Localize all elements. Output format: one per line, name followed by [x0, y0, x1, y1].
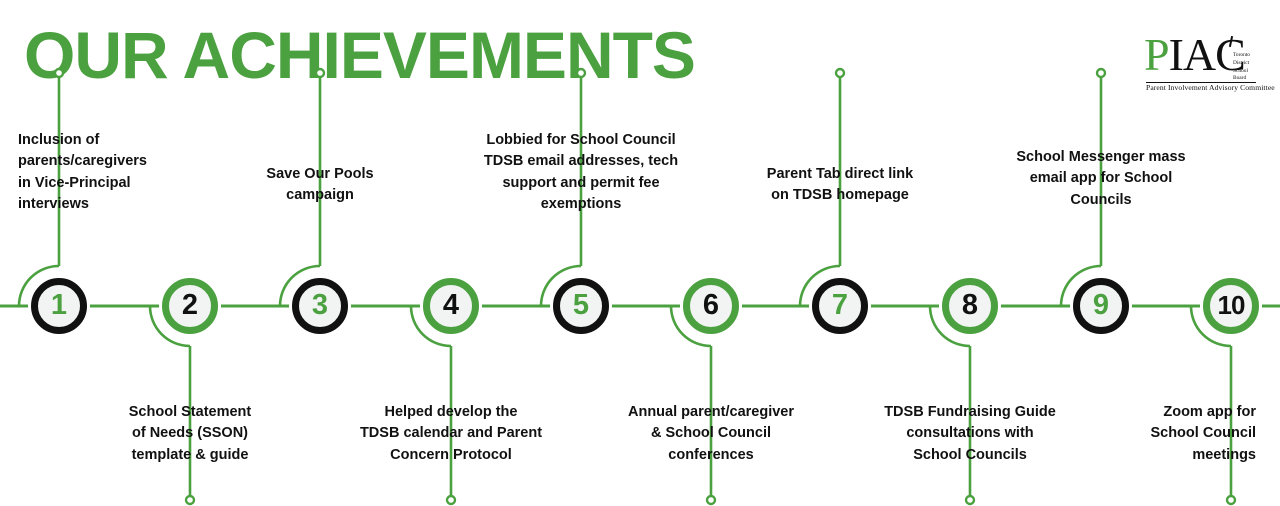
timeline-node-number: 6	[703, 291, 719, 320]
achievement-label-line: Councils	[951, 190, 1251, 211]
achievement-label-line: exemptions	[431, 194, 731, 215]
achievement-label-line: email app for School	[951, 168, 1251, 189]
achievement-label-line: template & guide	[40, 445, 340, 466]
achievement-label-line: campaign	[170, 185, 470, 206]
achievement-label-line: of Needs (SSON)	[40, 423, 340, 444]
achievement-label-9: School Messenger massemail app for Schoo…	[951, 147, 1251, 211]
achievement-label-4: Helped develop theTDSB calendar and Pare…	[301, 402, 601, 466]
timeline-node-7[interactable]: 7	[812, 278, 868, 334]
timeline-node-number: 4	[443, 291, 459, 320]
timeline-node-number: 7	[832, 291, 848, 320]
timeline-node-number: 2	[182, 291, 198, 320]
achievement-label-line: support and permit fee	[431, 173, 731, 194]
achievement-label-10: Zoom app forSchool Councilmeetings	[956, 402, 1256, 466]
achievement-label-6: Annual parent/caregiver& School Councilc…	[561, 402, 861, 466]
achievement-label-7: Parent Tab direct linkon TDSB homepage	[690, 164, 990, 207]
timeline-node-4[interactable]: 4	[423, 278, 479, 334]
achievement-label-line: conferences	[561, 445, 861, 466]
timeline-node-3[interactable]: 3	[292, 278, 348, 334]
timeline-node-number: 1	[51, 291, 67, 320]
achievement-label-line: Save Our Pools	[170, 164, 470, 185]
timeline-node-number: 3	[312, 291, 328, 320]
timeline-node-8[interactable]: 8	[942, 278, 998, 334]
achievement-label-line: Concern Protocol	[301, 445, 601, 466]
achievement-label-3: Save Our Poolscampaign	[170, 164, 470, 207]
achievement-label-line: School Statement	[40, 402, 340, 423]
timeline-node-number: 5	[573, 291, 589, 320]
achievement-label-line: Inclusion of	[18, 130, 318, 151]
timeline-node-10[interactable]: 10	[1203, 278, 1259, 334]
timeline-node-number: 10	[1218, 292, 1245, 318]
timeline-node-6[interactable]: 6	[683, 278, 739, 334]
achievement-label-line: TDSB email addresses, tech	[431, 151, 731, 172]
achievement-label-line: Parent Tab direct link	[690, 164, 990, 185]
achievement-label-line: School Council	[956, 423, 1256, 444]
timeline-node-number: 9	[1093, 291, 1109, 320]
timeline-node-number: 8	[962, 291, 978, 320]
achievement-label-line: & School Council	[561, 423, 861, 444]
achievement-label-line: Zoom app for	[956, 402, 1256, 423]
achievements-timeline: 12345678910 Inclusion ofparents/caregive…	[0, 0, 1280, 506]
achievement-label-line: on TDSB homepage	[690, 185, 990, 206]
achievement-label-5: Lobbied for School CouncilTDSB email add…	[431, 130, 731, 216]
achievement-label-2: School Statementof Needs (SSON)template …	[40, 402, 340, 466]
achievement-label-line: Lobbied for School Council	[431, 130, 731, 151]
timeline-node-1[interactable]: 1	[31, 278, 87, 334]
timeline-node-9[interactable]: 9	[1073, 278, 1129, 334]
timeline-node-5[interactable]: 5	[553, 278, 609, 334]
achievement-label-line: School Messenger mass	[951, 147, 1251, 168]
achievement-label-line: Annual parent/caregiver	[561, 402, 861, 423]
achievement-label-line: TDSB calendar and Parent	[301, 423, 601, 444]
timeline-node-2[interactable]: 2	[162, 278, 218, 334]
achievement-label-line: Helped develop the	[301, 402, 601, 423]
achievement-label-line: meetings	[956, 445, 1256, 466]
